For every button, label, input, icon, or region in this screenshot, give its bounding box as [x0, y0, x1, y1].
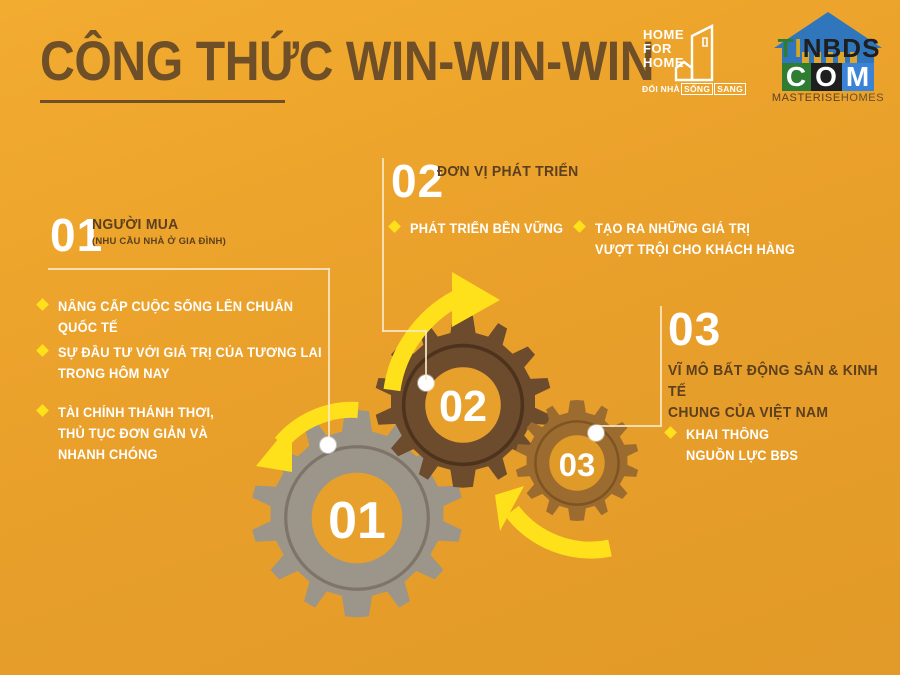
bullet-03-1: KHAI THÔNG NGUỒN LỰC BĐS [666, 424, 896, 466]
section-03-title: VĨ MÔ BẤT ĐỘNG SẢN & KINH TẾ CHUNG CỦA V… [668, 360, 884, 423]
bullet-03-1-text: KHAI THÔNG NGUỒN LỰC BĐS [686, 424, 798, 466]
bullet-01-2-text: SỰ ĐẦU TƯ VỚI GIÁ TRỊ CỦA TƯƠNG LAI TRON… [58, 342, 322, 384]
section-03-number: 03 [668, 306, 721, 352]
tagline-prefix: ĐỔI NHÀ [642, 84, 680, 94]
watermark-bottom-row: COM [774, 63, 882, 91]
title-block: CÔNG THỨC WIN-WIN-WIN [40, 32, 640, 103]
bullet-01-1-text: NÂNG CẤP CUỘC SỐNG LÊN CHUẨN QUỐC TẾ [58, 296, 324, 338]
connector-dot-03 [588, 425, 604, 441]
title-underline [40, 100, 285, 103]
bullet-02-1: PHÁT TRIỂN BỀN VỮNG [390, 218, 580, 239]
bullet-01-3-text: TÀI CHÍNH THẢNH THƠI, THỦ TỤC ĐƠN GIẢN V… [58, 402, 214, 465]
hfh-line-1: HOME [643, 28, 684, 42]
infographic-canvas: 01 02 03 [0, 0, 900, 675]
bullet-01-2: SỰ ĐẦU TƯ VỚI GIÁ TRỊ CỦA TƯƠNG LAI TRON… [38, 342, 338, 384]
gear-03-label: 03 [559, 446, 595, 483]
connector-01-horizontal [48, 268, 330, 270]
bullet-02-2: TẠO RA NHỮNG GIÁ TRỊ VƯỢT TRỘI CHO KHÁCH… [575, 218, 875, 260]
bullet-01-1: NÂNG CẤP CUỘC SỐNG LÊN CHUẨN QUỐC TẾ [38, 296, 338, 338]
diamond-bullet-icon [388, 220, 401, 233]
connector-03-horizontal [596, 425, 662, 427]
tinbds-watermark: TINBDS COM [774, 34, 882, 90]
bullet-02-1-text: PHÁT TRIỂN BỀN VỮNG [410, 218, 563, 239]
tagline-word-2: SANG [714, 83, 746, 95]
hfh-line-2: FOR [643, 42, 684, 56]
diamond-bullet-icon [36, 344, 49, 357]
bullet-02-2-text: TẠO RA NHỮNG GIÁ TRỊ VƯỢT TRỘI CHO KHÁCH… [595, 218, 795, 260]
diamond-bullet-icon [36, 404, 49, 417]
home-for-home-wordmark: HOME FOR HOME [643, 28, 684, 70]
masterise-bold: MASTERISE [772, 92, 841, 104]
diamond-bullet-icon [573, 220, 586, 233]
gear-02-label: 02 [439, 383, 487, 431]
section-01-subtitle: (NHU CẦU NHÀ Ở GIA ĐÌNH) [92, 236, 226, 247]
diamond-bullet-icon [36, 298, 49, 311]
section-01-title: NGƯỜI MUA [92, 216, 178, 234]
tagline-word-1: SỐNG [681, 83, 713, 95]
watermark-top-row: TINBDS [774, 34, 882, 62]
bullet-01-3: TÀI CHÍNH THẢNH THƠI, THỦ TỤC ĐƠN GIẢN V… [38, 402, 338, 465]
connector-02-vertical [382, 158, 384, 332]
masterise-homes-logo: TINBDS COM MASTERISEHOMES [762, 8, 894, 108]
masterise-wordmark: MASTERISEHOMES [762, 92, 894, 104]
home-for-home-tagline: ĐỔI NHÀSỐNGSANG [642, 84, 746, 94]
section-02-title: ĐƠN VỊ PHÁT TRIỂN [437, 163, 578, 181]
home-for-home-logo: HOME FOR HOME ĐỔI NHÀSỐNGSANG [640, 22, 735, 104]
connector-02-drop [425, 330, 427, 380]
masterise-light: HOMES [841, 92, 884, 104]
diamond-bullet-icon [664, 426, 677, 439]
page-title: CÔNG THỨC WIN-WIN-WIN [40, 32, 556, 90]
hfh-line-3: HOME [643, 56, 684, 70]
connector-03-vertical [660, 306, 662, 426]
connector-02-horizontal [382, 330, 426, 332]
gear-01-label: 01 [328, 491, 386, 549]
